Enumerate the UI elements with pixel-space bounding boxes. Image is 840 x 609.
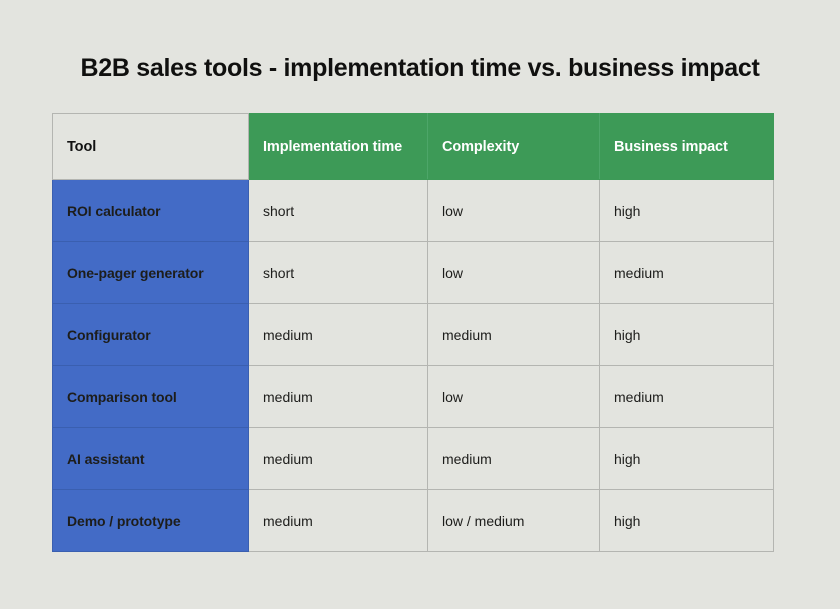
cell-complexity: medium	[428, 304, 600, 366]
cell-tool-name: Configurator	[53, 304, 249, 366]
cell-implementation: medium	[249, 490, 428, 552]
cell-tool-name: Demo / prototype	[53, 490, 249, 552]
cell-implementation: medium	[249, 304, 428, 366]
column-header-business-impact: Business impact	[600, 114, 774, 180]
table-row: AI assistant medium medium high	[53, 428, 774, 490]
cell-business-impact: high	[600, 428, 774, 490]
cell-tool-name: ROI calculator	[53, 180, 249, 242]
cell-business-impact: medium	[600, 366, 774, 428]
page-title: B2B sales tools - implementation time vs…	[0, 54, 840, 83]
cell-complexity: low	[428, 242, 600, 304]
cell-tool-name: Comparison tool	[53, 366, 249, 428]
cell-complexity: low	[428, 180, 600, 242]
table-row: Demo / prototype medium low / medium hig…	[53, 490, 774, 552]
cell-tool-name: AI assistant	[53, 428, 249, 490]
cell-implementation: medium	[249, 428, 428, 490]
cell-implementation: short	[249, 180, 428, 242]
cell-business-impact: high	[600, 180, 774, 242]
column-header-complexity: Complexity	[428, 114, 600, 180]
cell-implementation: medium	[249, 366, 428, 428]
cell-tool-name: One-pager generator	[53, 242, 249, 304]
cell-complexity: low / medium	[428, 490, 600, 552]
table-header-row: Tool Implementation time Complexity Busi…	[53, 114, 774, 180]
table-row: Comparison tool medium low medium	[53, 366, 774, 428]
cell-business-impact: high	[600, 490, 774, 552]
table-row: One-pager generator short low medium	[53, 242, 774, 304]
comparison-table: Tool Implementation time Complexity Busi…	[52, 113, 774, 552]
cell-complexity: medium	[428, 428, 600, 490]
table-row: Configurator medium medium high	[53, 304, 774, 366]
column-header-implementation-time: Implementation time	[249, 114, 428, 180]
table-header: Tool Implementation time Complexity Busi…	[53, 114, 774, 180]
column-header-tool: Tool	[53, 114, 249, 180]
cell-business-impact: high	[600, 304, 774, 366]
table-body: ROI calculator short low high One-pager …	[53, 180, 774, 552]
table-row: ROI calculator short low high	[53, 180, 774, 242]
cell-business-impact: medium	[600, 242, 774, 304]
cell-complexity: low	[428, 366, 600, 428]
cell-implementation: short	[249, 242, 428, 304]
